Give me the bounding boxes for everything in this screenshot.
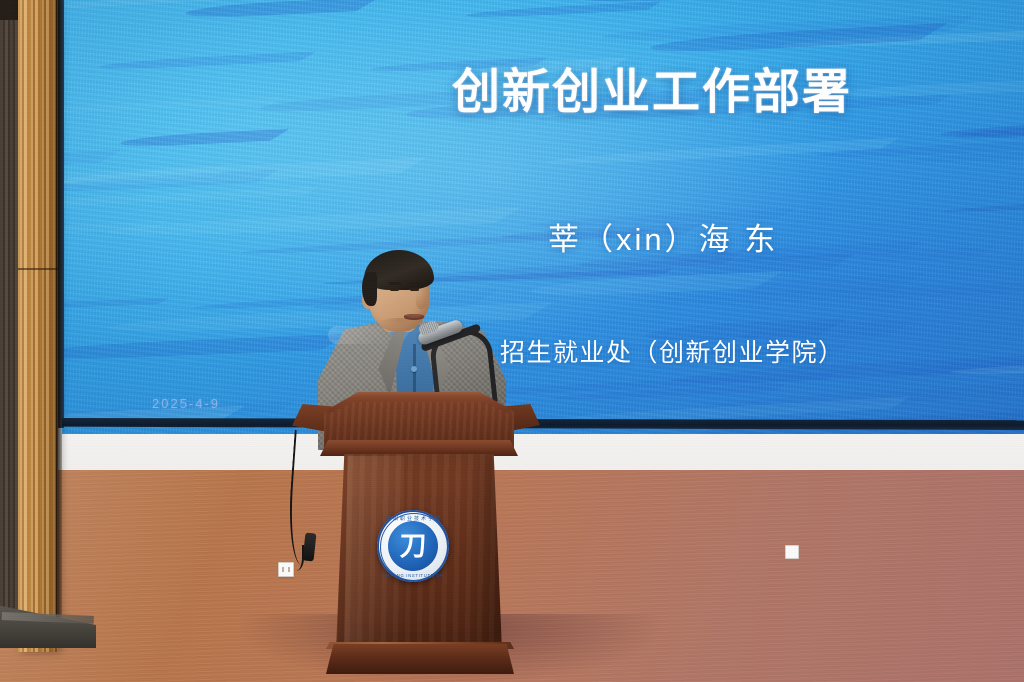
emblem-mark-glyph: 刀 (399, 532, 427, 560)
presentation-photo-scene: 创新创业工作部署 莘（xin）海 东 招生就业处（创新创业学院） 2025-4-… (0, 0, 1024, 682)
emblem-english-name: XINYANG INSTITUTE OF TECHNOLOGY (381, 573, 445, 578)
speaker-eye-left (390, 288, 399, 291)
screen-streak (460, 1, 661, 19)
screen-streak (173, 0, 380, 20)
screen-streak (62, 150, 122, 170)
slide-date: 2025-4-9 (152, 396, 220, 411)
screen-streak (896, 0, 1024, 3)
podium: 信阳职业技术学院 刀 XINYANG INSTITUTE OF TECHNOLO… (292, 392, 540, 682)
university-emblem: 信阳职业技术学院 刀 XINYANG INSTITUTE OF TECHNOLO… (377, 510, 449, 582)
speaker-mouth (404, 314, 424, 320)
speaker-eyebrow-right (409, 282, 421, 285)
slide-title: 创新创业工作部署 (452, 52, 852, 122)
shirt-button (411, 366, 417, 372)
jacket-shoulder-highlight (328, 326, 388, 344)
screen-streak (62, 298, 169, 312)
wall-outlet-right-icon (785, 545, 799, 559)
wood-column-highlight (18, 0, 58, 652)
wood-column-seam (18, 268, 58, 270)
wall-panel-gap (56, 0, 62, 640)
speaker-eye-right (410, 288, 419, 291)
speaker-nose (416, 294, 427, 309)
podium-plinth (326, 644, 514, 674)
screen-streak (62, 97, 283, 116)
slide-presenter-name: 莘（xin）海 东 (548, 214, 778, 259)
speaker-chin-shadow (378, 318, 422, 332)
speaker-eyebrow-left (389, 282, 401, 285)
podium-lip (320, 440, 518, 456)
speaker-hair-side (362, 272, 377, 306)
slide-department: 招生就业处（创新创业学院） (500, 333, 845, 369)
screen-streak (928, 106, 1024, 140)
screen-streak (938, 192, 1024, 215)
screen-streak (93, 52, 317, 72)
screen-streak (62, 433, 167, 434)
screen-streak (111, 128, 291, 148)
screen-streak (62, 334, 348, 363)
